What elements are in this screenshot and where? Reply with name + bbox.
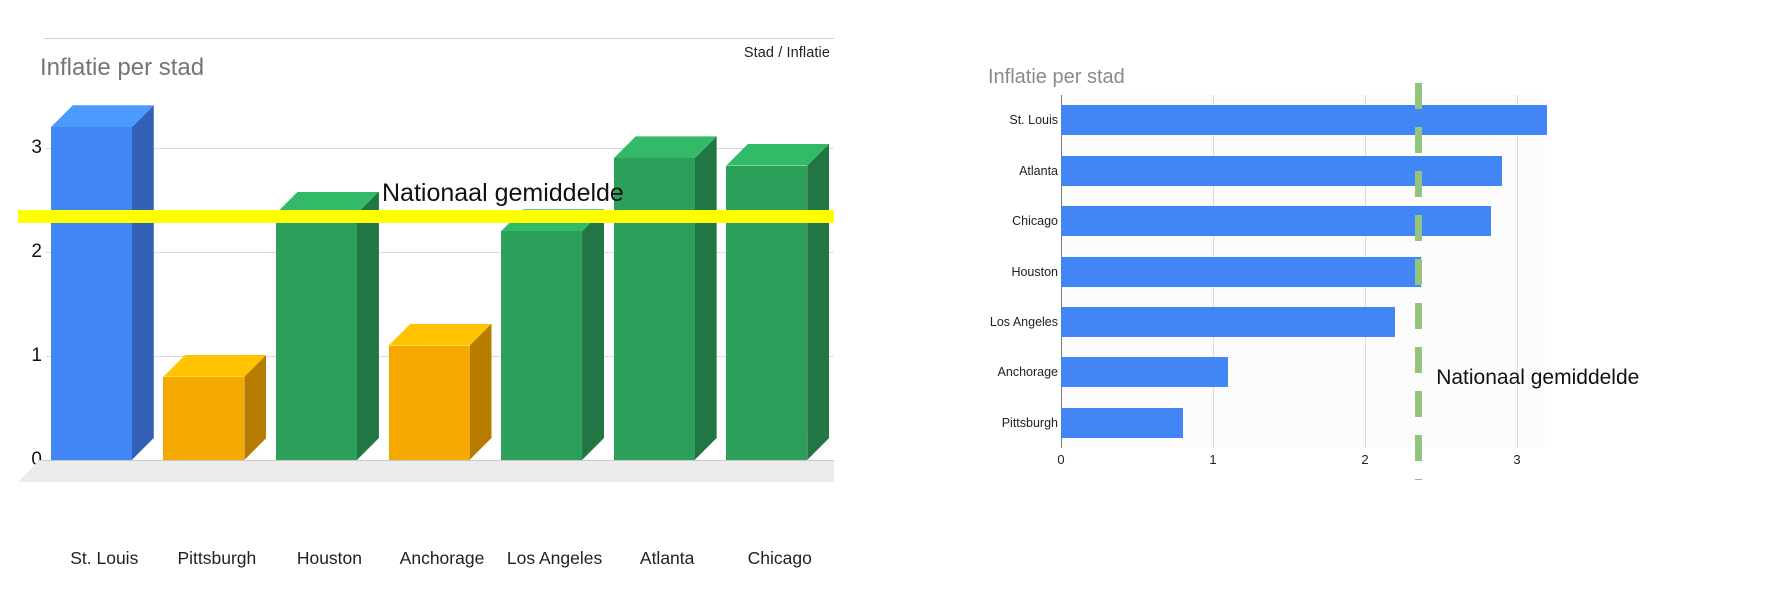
bar-front-face xyxy=(614,158,695,460)
bar-3d[interactable] xyxy=(163,377,244,460)
average-line-label: Nationaal gemiddelde xyxy=(1436,366,1639,390)
y-axis-tick-label: 2 xyxy=(18,241,42,263)
x-axis-category-label: Atlanta xyxy=(640,548,694,569)
bar-side-face xyxy=(132,105,154,460)
y-axis-category-label: Anchorage xyxy=(998,365,1058,379)
x-axis-category-label: St. Louis xyxy=(70,548,138,569)
y-axis-category-label: Los Angeles xyxy=(990,315,1058,329)
bar-side-face xyxy=(357,192,379,460)
x-axis-tick-label: 3 xyxy=(1513,452,1520,467)
bar[interactable] xyxy=(1061,408,1183,438)
y-axis-tick-label: 3 xyxy=(18,137,42,159)
x-axis-category-label: Anchorage xyxy=(400,548,485,569)
y-axis-category-label: Chicago xyxy=(1012,214,1058,228)
x-axis-tick-label: 0 xyxy=(1057,452,1064,467)
y-axis-category-label: Houston xyxy=(1011,265,1058,279)
bar-front-face xyxy=(389,346,470,460)
y-axis-category-label: St. Louis xyxy=(1009,113,1058,127)
x-axis-category-label: Houston xyxy=(297,548,362,569)
left-chart-3d-column[interactable]: Stad / Inflatie Inflatie per stad 0123Na… xyxy=(0,0,868,592)
x-axis-tick-label: 2 xyxy=(1361,452,1368,467)
bar[interactable] xyxy=(1061,105,1547,135)
bar-3d[interactable] xyxy=(501,231,582,460)
bar-front-face xyxy=(163,377,244,460)
bar-side-face xyxy=(582,209,604,460)
y-axis-category-label: Pittsburgh xyxy=(1002,416,1058,430)
chart-floor-3d xyxy=(18,460,834,482)
bar-side-face xyxy=(695,136,717,460)
gridline xyxy=(1517,95,1518,448)
bar[interactable] xyxy=(1061,257,1421,287)
bar[interactable] xyxy=(1061,206,1491,236)
bar-3d[interactable] xyxy=(51,127,132,460)
right-chart-title: Inflatie per stad xyxy=(988,66,1125,89)
x-axis-tick-label: 1 xyxy=(1209,452,1216,467)
bar-side-face xyxy=(807,144,829,460)
slide-canvas: Stad / Inflatie Inflatie per stad 0123Na… xyxy=(0,0,1776,592)
bar[interactable] xyxy=(1061,307,1395,337)
x-axis-category-label: Chicago xyxy=(748,548,812,569)
bar-3d[interactable] xyxy=(614,158,695,460)
left-chart-plot-area: 0123Nationaal gemiddeldeSt. LouisPittsbu… xyxy=(0,0,868,592)
y-axis-category-label: Atlanta xyxy=(1019,164,1058,178)
bar-side-face xyxy=(470,324,492,460)
bar-3d[interactable] xyxy=(389,346,470,460)
bar[interactable] xyxy=(1061,357,1228,387)
right-chart-horizontal-bar[interactable]: Inflatie per stad 0123St. LouisAtlantaCh… xyxy=(868,0,1776,592)
bar-front-face xyxy=(276,214,357,460)
average-reference-line-dashed xyxy=(1415,83,1422,480)
y-axis-tick-label: 1 xyxy=(18,345,42,367)
x-axis-category-label: Pittsburgh xyxy=(177,548,256,569)
x-axis-category-label: Los Angeles xyxy=(507,548,602,569)
bar[interactable] xyxy=(1061,156,1502,186)
bar-3d[interactable] xyxy=(276,214,357,460)
average-reference-line xyxy=(18,210,834,223)
bar-front-face xyxy=(51,127,132,460)
average-line-label: Nationaal gemiddelde xyxy=(382,179,624,208)
bar-front-face xyxy=(501,231,582,460)
